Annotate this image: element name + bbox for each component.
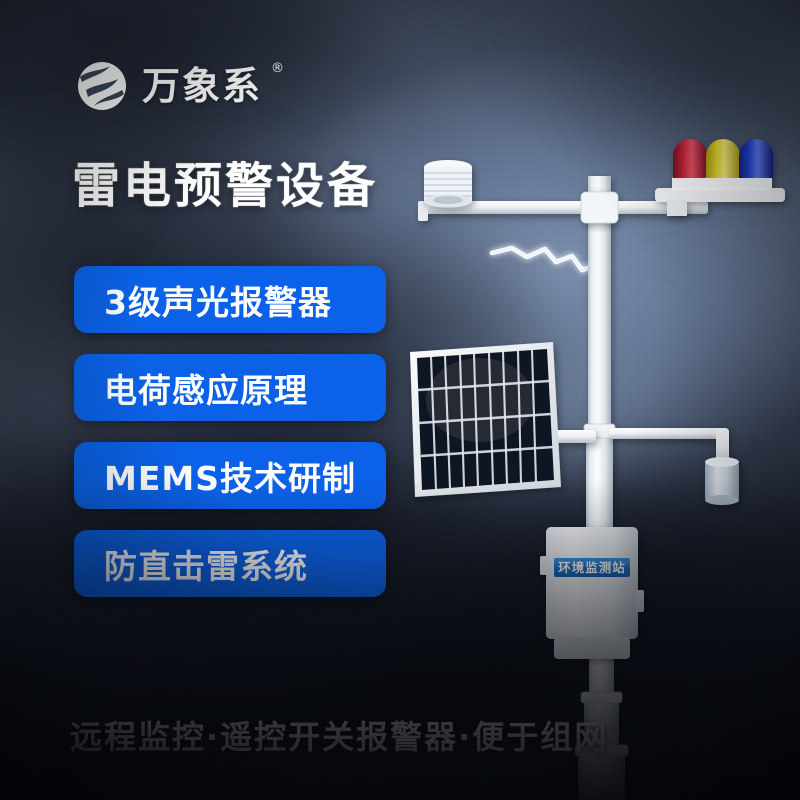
product-poster: 环境监测站 万象系 ® 雷电预警设备 3级声光报警器 电荷感应原理 MEMS技术… — [0, 0, 800, 800]
vignette-overlay — [0, 0, 800, 800]
